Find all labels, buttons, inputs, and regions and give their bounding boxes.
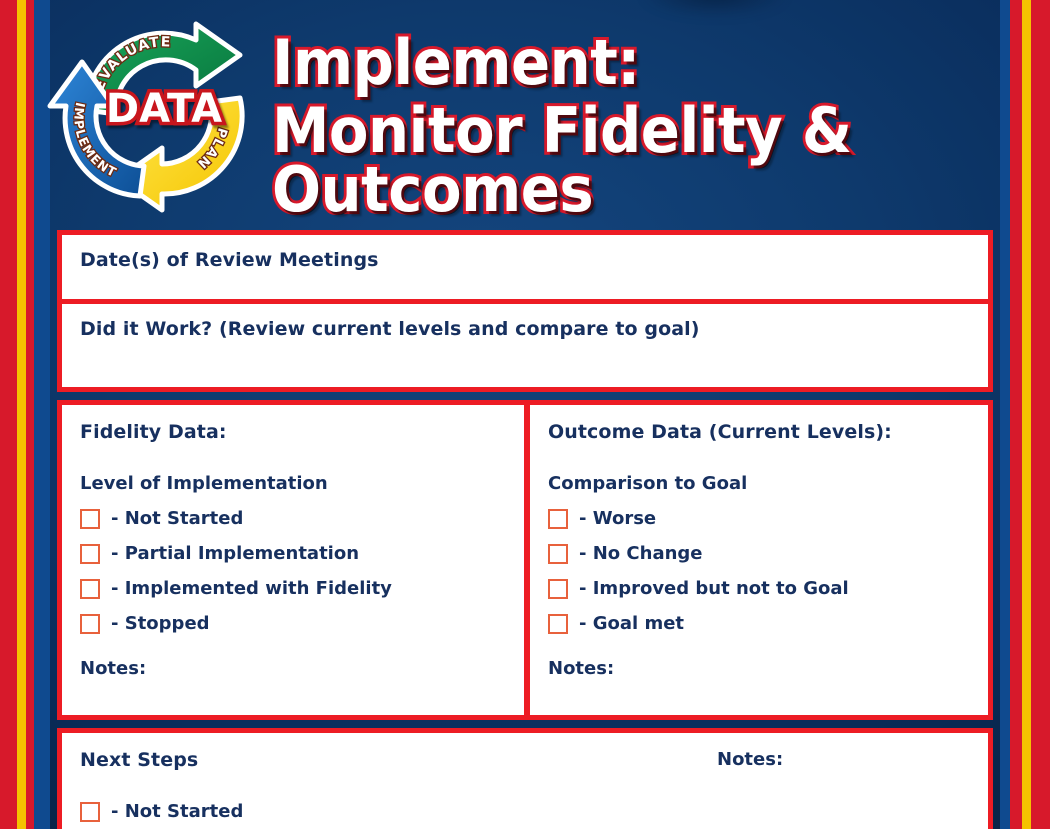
- checkbox-icon[interactable]: [80, 802, 100, 822]
- outcome-data-heading: Outcome Data (Current Levels):: [548, 421, 988, 443]
- data-wordmark: DATA: [106, 86, 222, 132]
- next-steps-heading: Next Steps: [80, 749, 988, 771]
- border-stripe-red-inner: [26, 0, 34, 829]
- checkbox-icon[interactable]: [548, 614, 568, 634]
- checkbox-icon[interactable]: [548, 579, 568, 599]
- fidelity-option-label: - Implemented with Fidelity: [111, 578, 392, 599]
- outcome-option-goal-met[interactable]: - Goal met: [548, 613, 988, 634]
- fidelity-option-label: - Partial Implementation: [111, 543, 359, 564]
- data-cycle-svg: EVALUATE PLAN IMPLEMENT DATA: [44, 14, 284, 214]
- worksheet-form: Date(s) of Review Meetings Did it Work? …: [57, 230, 993, 829]
- outcome-option-label: - Goal met: [579, 613, 684, 634]
- data-columns: Fidelity Data: Level of Implementation -…: [57, 400, 993, 720]
- outcome-option-no-change[interactable]: - No Change: [548, 543, 988, 564]
- background-smudge: [640, 0, 790, 18]
- fidelity-option-label: - Stopped: [111, 613, 210, 634]
- fidelity-option-label: - Not Started: [111, 508, 243, 529]
- border-stripe-yellow: [1022, 0, 1031, 829]
- data-cycle-logo: EVALUATE PLAN IMPLEMENT DATA: [44, 14, 284, 214]
- page-title-line1: Implement:: [272, 34, 962, 92]
- fidelity-option-partial-implementation[interactable]: - Partial Implementation: [80, 543, 524, 564]
- fidelity-option-not-started[interactable]: - Not Started: [80, 508, 524, 529]
- outcome-option-label: - Improved but not to Goal: [579, 578, 849, 599]
- fidelity-data-heading: Fidelity Data:: [80, 421, 524, 443]
- level-of-implementation-subheading: Level of Implementation: [80, 473, 524, 494]
- comparison-to-goal-subheading: Comparison to Goal: [548, 473, 988, 494]
- checkbox-icon[interactable]: [548, 509, 568, 529]
- date-of-review-meetings-label: Date(s) of Review Meetings: [80, 249, 988, 271]
- outcome-data-panel: Outcome Data (Current Levels): Compariso…: [527, 400, 993, 720]
- checkbox-icon[interactable]: [80, 579, 100, 599]
- checkbox-icon[interactable]: [548, 544, 568, 564]
- date-of-review-meetings-field[interactable]: Date(s) of Review Meetings: [57, 230, 993, 304]
- outcome-notes-label: Notes:: [548, 658, 988, 679]
- checkbox-icon[interactable]: [80, 614, 100, 634]
- checkbox-icon[interactable]: [80, 544, 100, 564]
- outcome-option-label: - No Change: [579, 543, 703, 564]
- did-it-work-field[interactable]: Did it Work? (Review current levels and …: [57, 304, 993, 392]
- page-title: Implement: Monitor Fidelity & Outcomes: [272, 34, 1014, 219]
- fidelity-data-panel: Fidelity Data: Level of Implementation -…: [57, 400, 527, 720]
- outcome-option-improved-but-not-to-goal[interactable]: - Improved but not to Goal: [548, 578, 988, 599]
- worksheet-page: EVALUATE PLAN IMPLEMENT DATA: [0, 0, 1050, 829]
- border-stripe-yellow: [17, 0, 26, 829]
- next-steps-option-label: - Not Started: [111, 801, 243, 822]
- did-it-work-label: Did it Work? (Review current levels and …: [80, 318, 988, 340]
- left-border-stripes: [0, 0, 50, 829]
- outcome-option-worse[interactable]: - Worse: [548, 508, 988, 529]
- page-title-line2: Monitor Fidelity & Outcomes: [272, 102, 962, 219]
- next-steps-notes-label: Notes:: [717, 749, 783, 770]
- next-steps-panel: Next Steps Notes: - Not Started: [57, 728, 993, 829]
- outcome-option-label: - Worse: [579, 508, 656, 529]
- fidelity-option-implemented-with-fidelity[interactable]: - Implemented with Fidelity: [80, 578, 524, 599]
- border-stripe-red-outer: [1031, 0, 1050, 829]
- next-steps-option-not-started[interactable]: - Not Started: [80, 801, 988, 822]
- border-stripe-red-outer: [0, 0, 17, 829]
- checkbox-icon[interactable]: [80, 509, 100, 529]
- fidelity-notes-label: Notes:: [80, 658, 524, 679]
- fidelity-option-stopped[interactable]: - Stopped: [80, 613, 524, 634]
